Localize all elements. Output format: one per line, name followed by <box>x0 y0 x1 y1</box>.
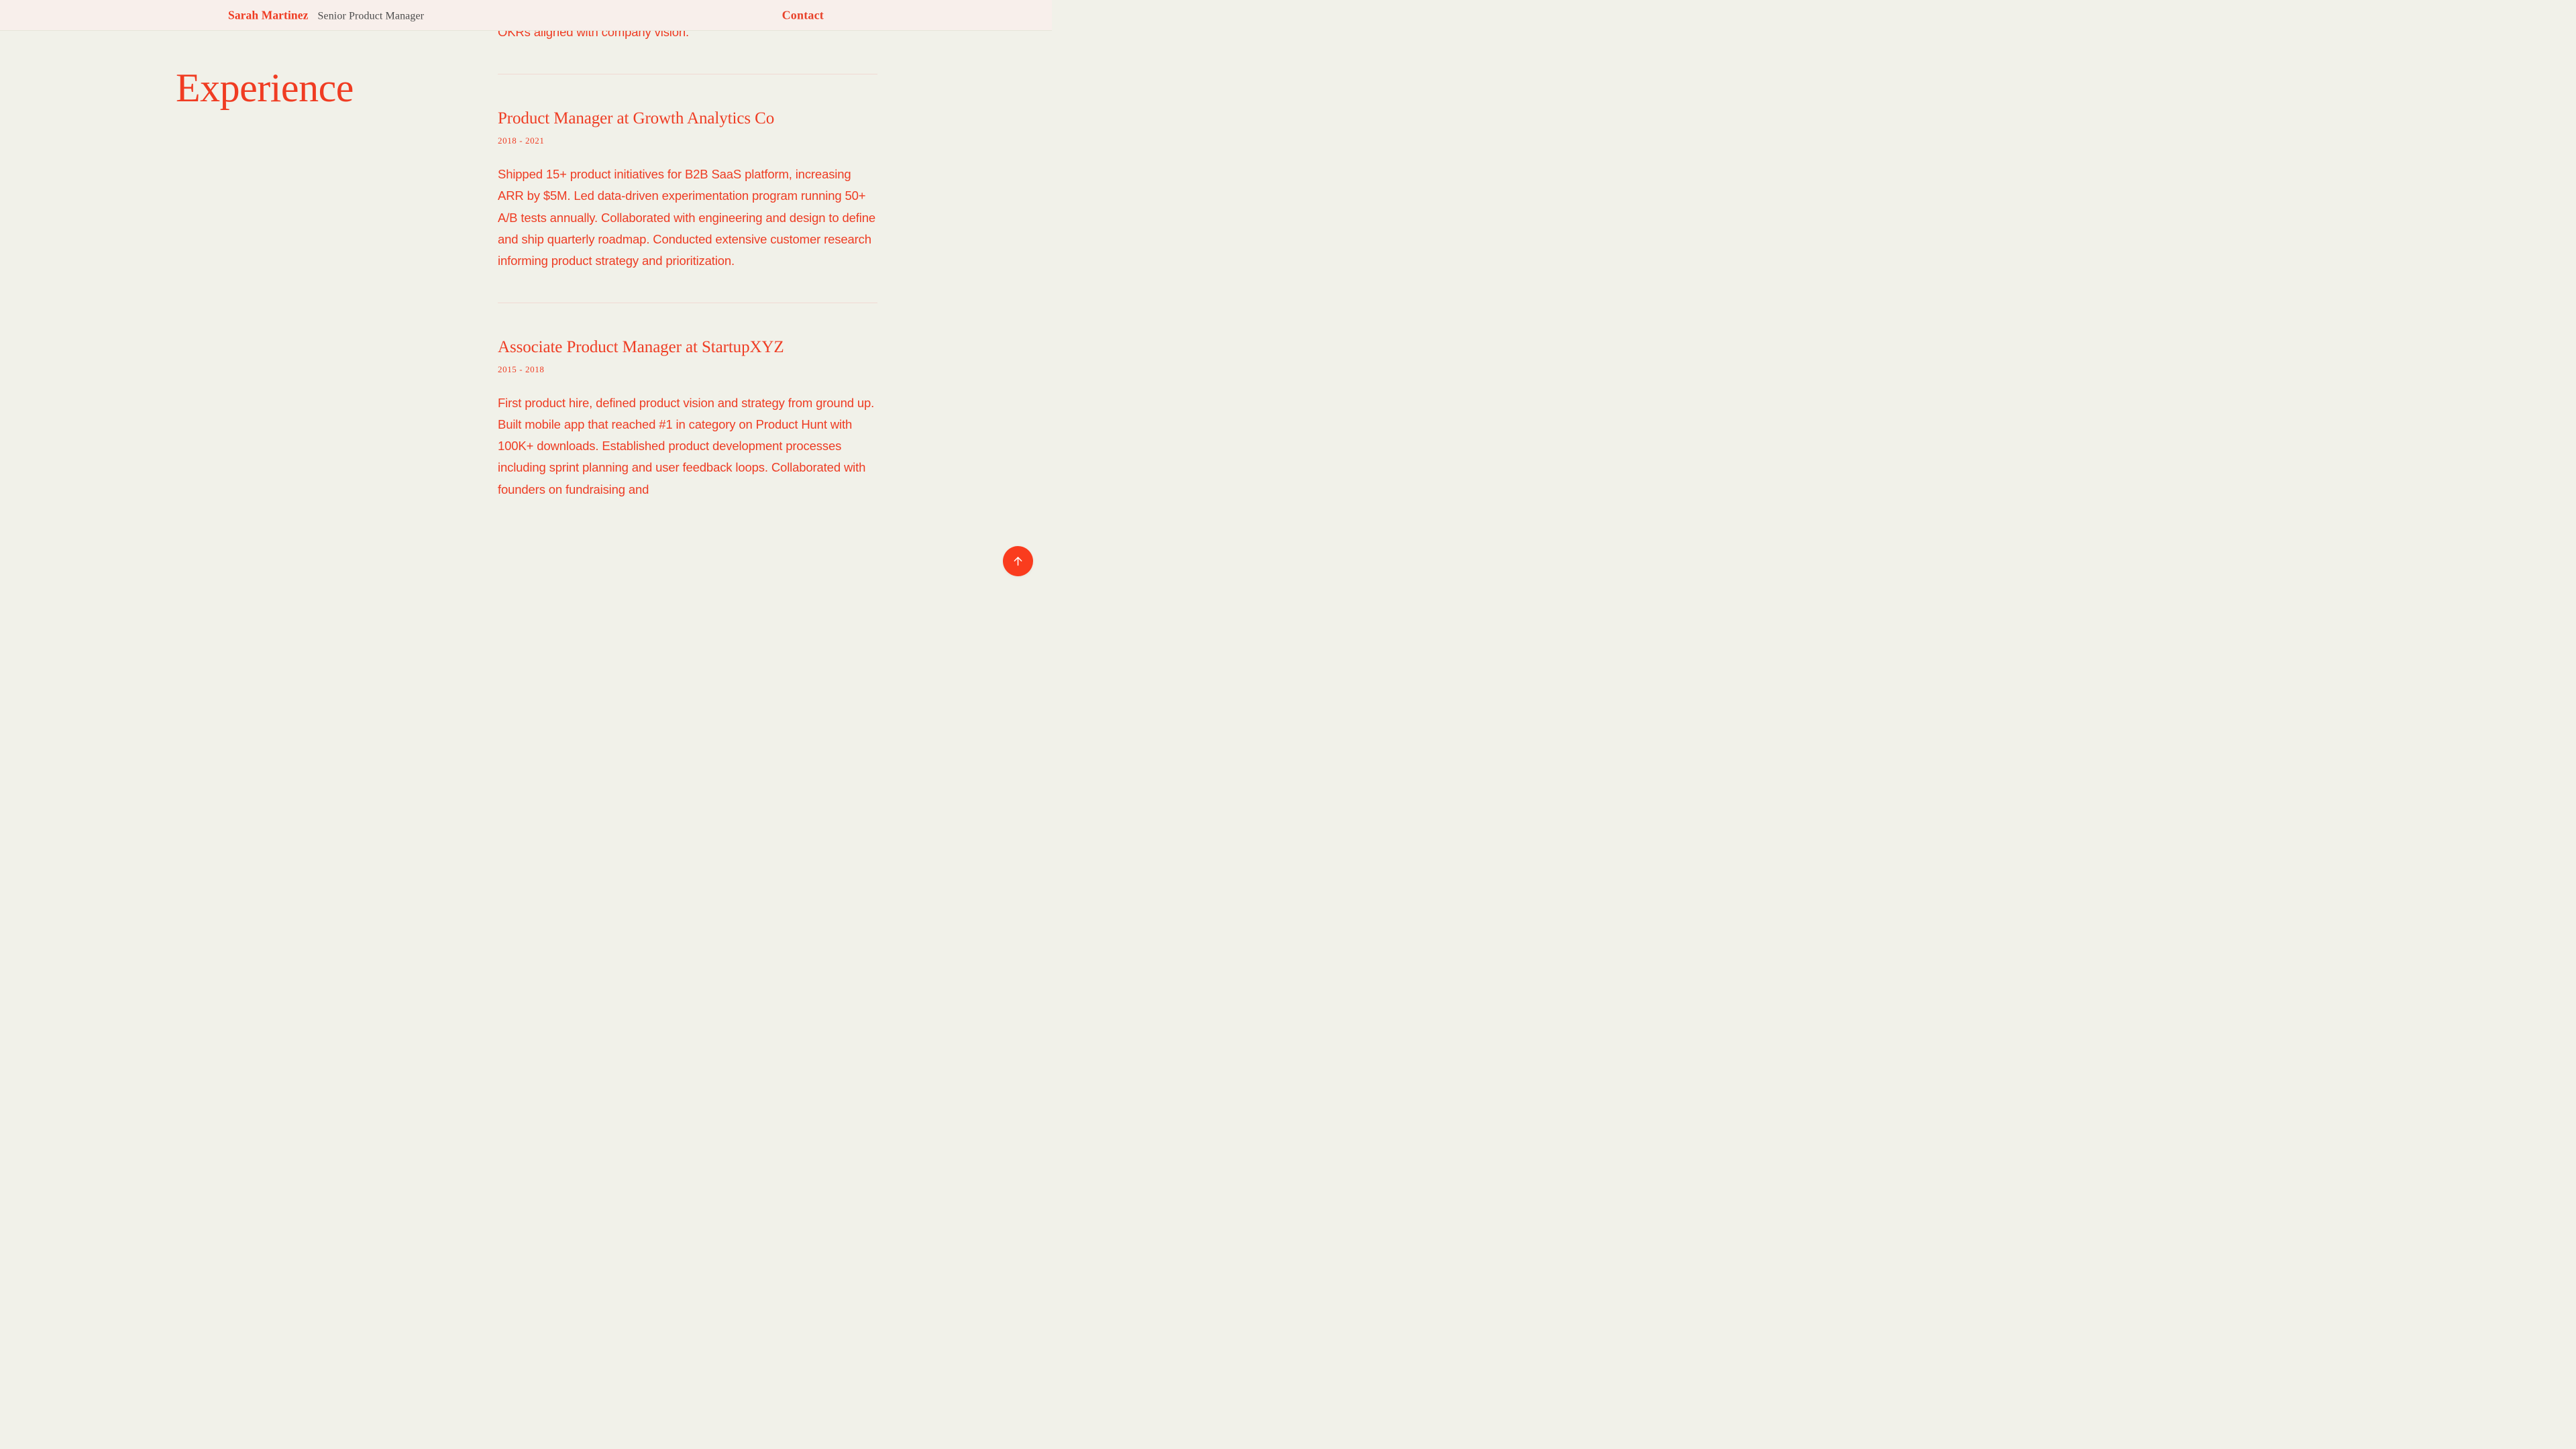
experience-entries-column: engineers, designers, and analysts. Defi… <box>498 0 877 500</box>
arrow-up-icon <box>1012 555 1024 568</box>
page-title: Experience <box>176 66 458 111</box>
nav-link-contact[interactable]: Contact <box>782 8 824 22</box>
scroll-to-top-button[interactable] <box>1003 546 1033 576</box>
brand-name[interactable]: Sarah Martinez <box>228 8 309 22</box>
brand-role: Senior Product Manager <box>318 10 425 22</box>
entry-date-range: 2015 - 2018 <box>498 364 877 375</box>
page-root: engineers, designers, and analysts. Defi… <box>0 0 1052 591</box>
experience-entry: Product Manager at Growth Analytics Co 2… <box>498 109 877 272</box>
entry-date-range: 2018 - 2021 <box>498 136 877 146</box>
site-header: Sarah Martinez Senior Product Manager Co… <box>0 0 1052 31</box>
entry-divider <box>498 303 877 303</box>
entry-title: Associate Product Manager at StartupXYZ <box>498 338 877 358</box>
entry-description: First product hire, defined product visi… <box>498 392 877 500</box>
experience-entry: Associate Product Manager at StartupXYZ … <box>498 338 877 500</box>
brand[interactable]: Sarah Martinez Senior Product Manager <box>228 8 424 22</box>
entry-description: Shipped 15+ product initiatives for B2B … <box>498 164 877 272</box>
entry-divider <box>498 74 877 74</box>
section-heading-column: Experience <box>176 66 458 111</box>
entry-title: Product Manager at Growth Analytics Co <box>498 109 877 129</box>
